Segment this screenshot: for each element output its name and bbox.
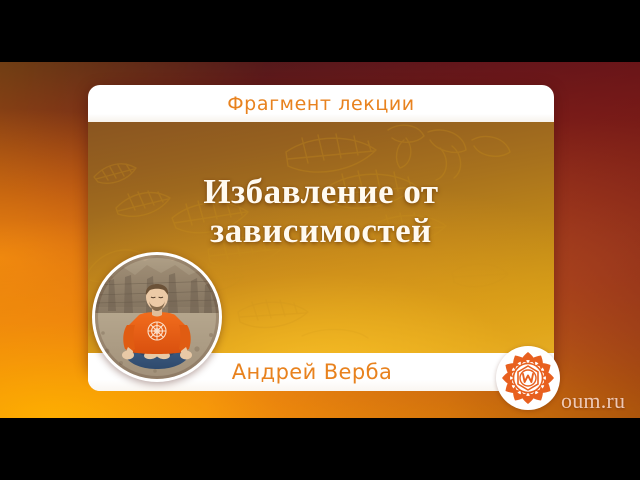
title-line-2: зависимостей [88, 211, 554, 250]
video-frame: Фрагмент лекции [0, 0, 640, 480]
speaker-portrait-photo [92, 252, 222, 382]
oum-logo[interactable] [496, 346, 560, 410]
kicker-label: Фрагмент лекции [227, 93, 415, 115]
letterbox-bar-top [0, 0, 640, 62]
card-header-band: Фрагмент лекции [88, 85, 554, 122]
portrait-illustration [95, 255, 219, 379]
lecture-title: Избавление от зависимостей [88, 172, 554, 250]
letterbox-bar-bottom [0, 418, 640, 480]
chakra-flame-logo-icon [500, 350, 556, 406]
title-line-1: Избавление от [203, 172, 438, 211]
site-watermark: oum.ru [561, 388, 625, 414]
